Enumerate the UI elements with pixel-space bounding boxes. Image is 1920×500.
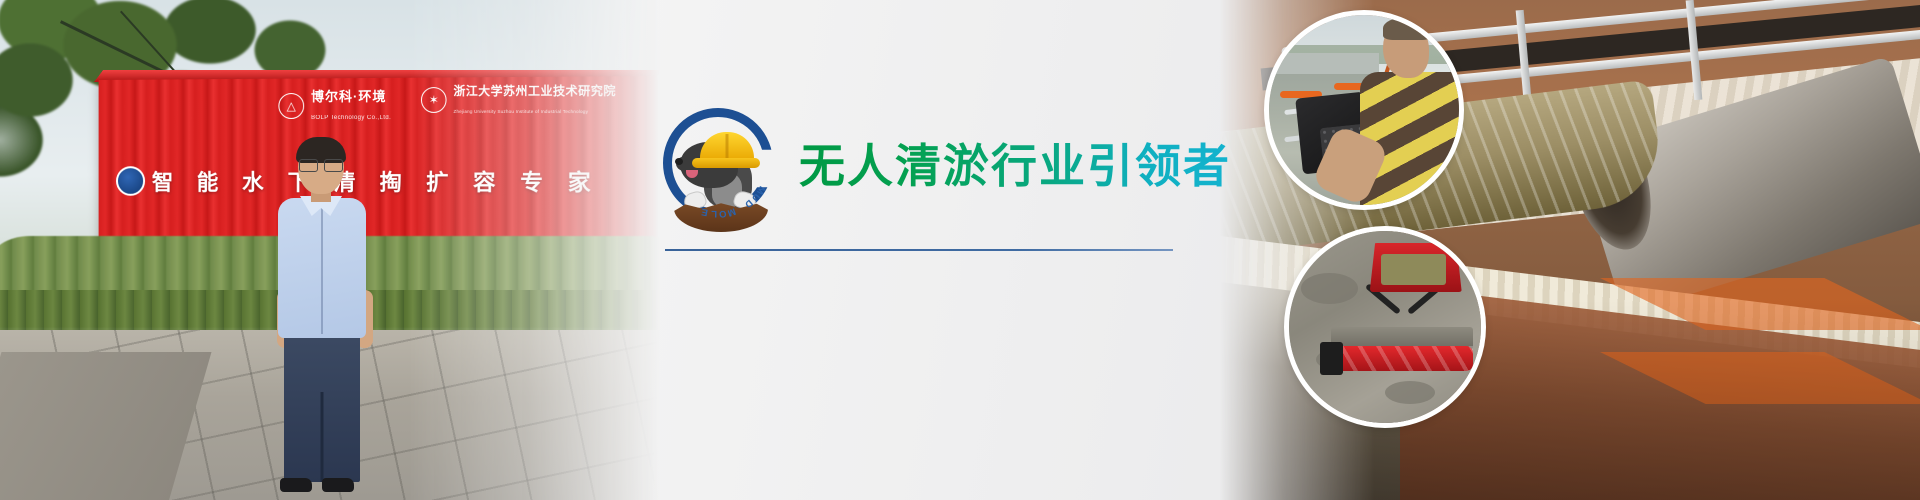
logo-arc-text: MUD MOLE bbox=[663, 108, 773, 218]
person-figure bbox=[270, 140, 380, 500]
auger-gearbox bbox=[1320, 342, 1343, 375]
brand-name-cn: 博尔科·环境 bbox=[311, 89, 386, 104]
logo-arc-char: E bbox=[700, 206, 709, 218]
logo-arc-char: O bbox=[718, 207, 728, 219]
mud-mole-logo: MUD MOLE bbox=[663, 108, 773, 218]
mud-patch bbox=[1301, 273, 1359, 304]
brand-name-en: BOLP Technology Co.,Ltd. bbox=[311, 115, 391, 121]
partner-name-cn: 浙江大学苏州工业技术研究院 bbox=[453, 84, 616, 98]
robot-deck bbox=[1381, 254, 1446, 285]
partner-logo-zju: ✶ 浙江大学苏州工业技术研究院 Zhejiang University Suzh… bbox=[421, 82, 616, 118]
operator-striped-shirt bbox=[1360, 72, 1464, 205]
zju-mark-icon: ✶ bbox=[421, 87, 447, 113]
operator-hair bbox=[1383, 17, 1432, 40]
brand-logo-bolp: △ 博尔科·环境 BOLP Technology Co.,Ltd. bbox=[278, 88, 391, 124]
mud-patch bbox=[1385, 381, 1435, 404]
hero-banner: △ 博尔科·环境 BOLP Technology Co.,Ltd. ✶ 浙江大学… bbox=[0, 0, 1920, 500]
page-headline: 无人清淤行业引领者 bbox=[799, 130, 1231, 196]
logo-arc-char: M bbox=[725, 205, 737, 218]
headline-row: MUD MOLE 无人清淤行业引领者 bbox=[663, 108, 1231, 218]
shirt bbox=[278, 198, 366, 338]
partner-name-en: Zhejiang University Suzhou Institute of … bbox=[453, 109, 588, 114]
center-content: MUD MOLE 无人清淤行业引领者 bbox=[655, 0, 1275, 500]
left-photo: △ 博尔科·环境 BOLP Technology Co.,Ltd. ✶ 浙江大学… bbox=[0, 0, 660, 500]
right-shoe bbox=[322, 478, 354, 492]
glasses-icon bbox=[299, 159, 343, 170]
logo-arc-char: L bbox=[711, 208, 718, 219]
bolp-mark-icon: △ bbox=[278, 93, 304, 119]
slogan-badge-icon bbox=[116, 166, 145, 196]
trousers bbox=[284, 332, 360, 482]
circle-photo-operator bbox=[1264, 10, 1464, 210]
headline-divider bbox=[665, 249, 1173, 251]
circle-photo-dredging-robot bbox=[1284, 226, 1486, 428]
left-shoe bbox=[280, 478, 312, 492]
red-auger bbox=[1335, 346, 1473, 371]
